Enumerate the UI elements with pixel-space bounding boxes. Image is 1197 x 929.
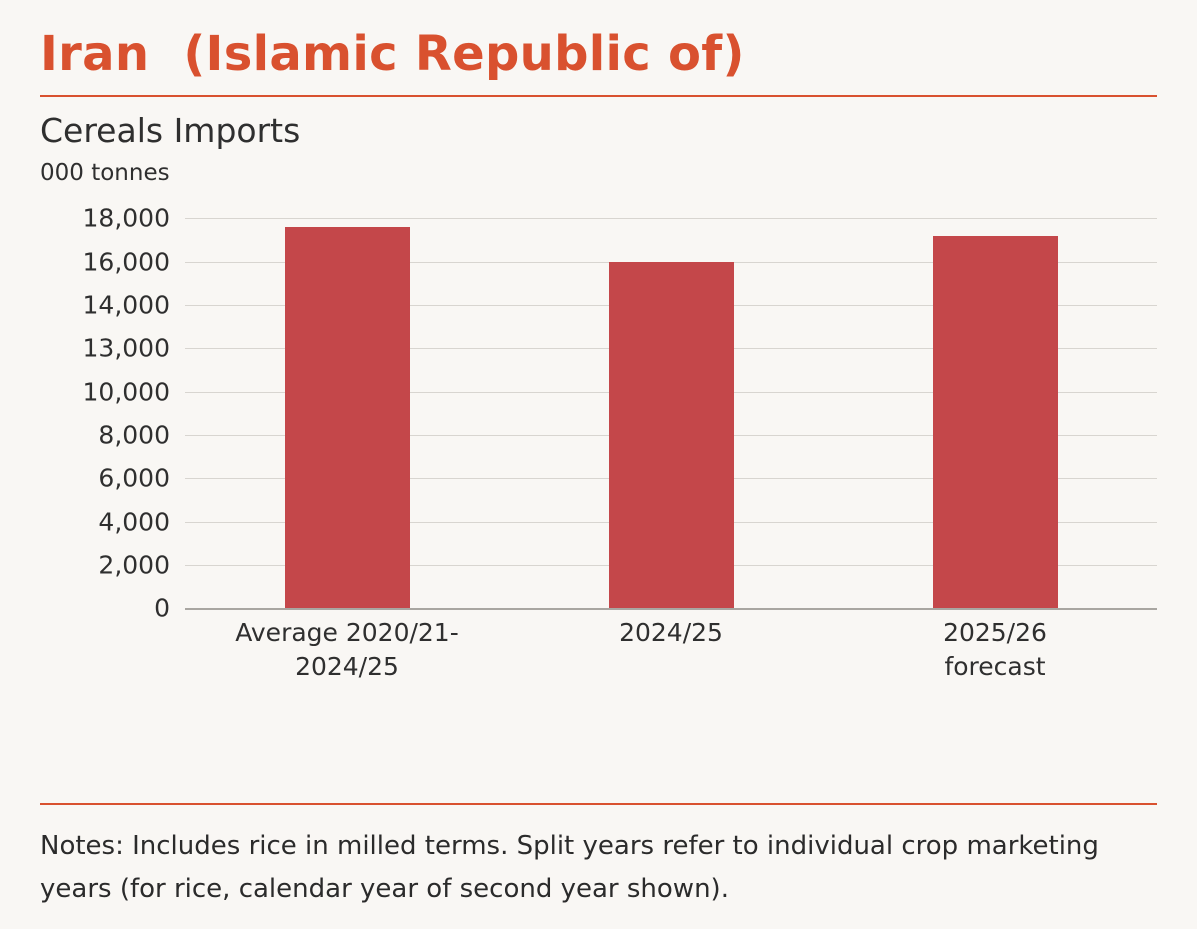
y-axis-tick-label: 16,000	[83, 249, 170, 274]
chart-card: Iran (Islamic Republic of) Cereals Impor…	[0, 0, 1197, 929]
bar	[933, 236, 1058, 609]
bar-series	[185, 218, 1157, 608]
y-axis-tick-label: 0	[154, 596, 170, 621]
bar	[285, 227, 410, 608]
y-axis-tick-label: 8,000	[98, 423, 170, 448]
x-axis-tick-label: 2025/26 forecast	[914, 616, 1076, 684]
bar	[609, 262, 734, 609]
chart-title: Cereals Imports	[40, 113, 1157, 149]
y-axis-tick-label: 2,000	[98, 553, 170, 578]
y-axis-tick-label: 14,000	[83, 293, 170, 318]
footer-divider	[40, 803, 1157, 805]
chart-area: 18,00016,00014,00013,00010,0008,0006,000…	[40, 208, 1157, 708]
header-divider	[40, 95, 1157, 97]
plot-region	[185, 218, 1157, 608]
y-axis-tick-label: 6,000	[98, 466, 170, 491]
y-axis-tick-label: 10,000	[83, 379, 170, 404]
chart-units-label: 000 tonnes	[40, 161, 1157, 186]
y-axis-tick-label: 18,000	[83, 206, 170, 231]
y-axis-labels: 18,00016,00014,00013,00010,0008,0006,000…	[40, 218, 170, 608]
x-axis-tick-label: 2024/25	[619, 616, 723, 650]
x-axis-tick-label: Average 2020/21- 2024/25	[235, 616, 459, 684]
y-axis-tick-label: 4,000	[98, 509, 170, 534]
chart-notes: Notes: Includes rice in milled terms. Sp…	[40, 825, 1137, 911]
gridline	[185, 608, 1157, 610]
x-axis-labels: Average 2020/21- 2024/252024/252025/26 f…	[185, 616, 1157, 706]
page-title: Iran (Islamic Republic of)	[40, 0, 1157, 81]
y-axis-tick-label: 13,000	[83, 336, 170, 361]
